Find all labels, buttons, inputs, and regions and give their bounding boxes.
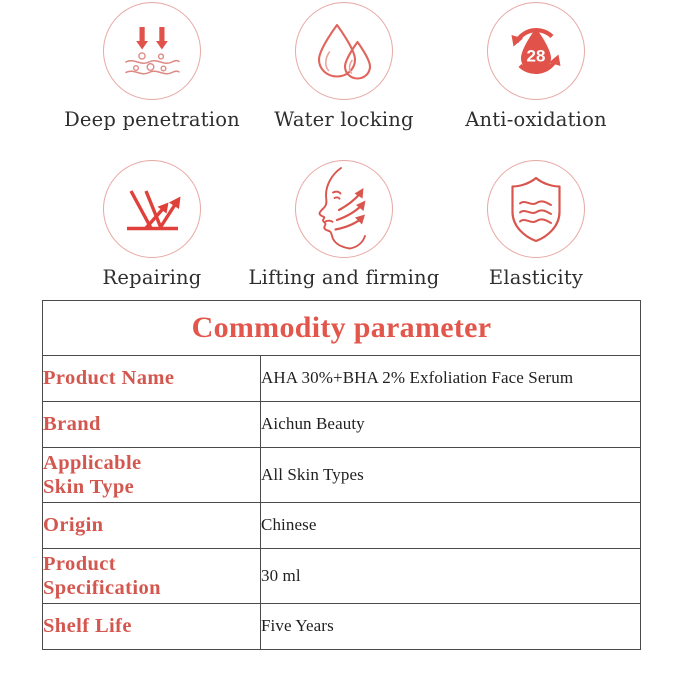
- label-text: Product Name: [43, 366, 260, 390]
- shield-waves-glyph: [501, 172, 571, 246]
- deep-penetration-icon: [103, 2, 201, 100]
- feature-item-repairing: Repairing: [52, 160, 252, 289]
- table-title-cell: Commodity parameter: [43, 301, 641, 356]
- feature-label: Anti-oxidation: [436, 108, 636, 131]
- table-row: Brand Aichun Beauty: [43, 402, 641, 448]
- commodity-parameter-table: Commodity parameter Product Name AHA 30%…: [42, 300, 641, 650]
- feature-label: Elasticity: [436, 266, 636, 289]
- anti-oxidation-badge-number: 28: [527, 47, 546, 66]
- deep-penetration-glyph: [116, 15, 188, 87]
- label-text: Applicable Skin Type: [43, 451, 260, 499]
- row-value-applicable-skin-type: All Skin Types: [261, 448, 641, 503]
- value-text: Chinese: [261, 515, 640, 535]
- table-row: Product Name AHA 30%+BHA 2% Exfoliation …: [43, 356, 641, 402]
- value-text: 30 ml: [261, 566, 640, 586]
- table-row: Shelf Life Five Years: [43, 604, 641, 650]
- page-title: Commodity parameter: [192, 311, 492, 344]
- feature-item-anti-oxidation: 28 Anti-oxidation: [436, 2, 636, 131]
- feature-label: Lifting and firming: [244, 266, 444, 289]
- row-label-product-specification: Product Specification: [43, 549, 261, 604]
- table-row: Origin Chinese: [43, 503, 641, 549]
- anti-oxidation-glyph: 28: [500, 15, 572, 87]
- label-text: Product Specification: [43, 552, 260, 600]
- feature-icon-grid: Deep penetration Water locking: [0, 0, 679, 296]
- face-lifting-glyph: [301, 166, 387, 252]
- water-droplets-glyph: [309, 16, 379, 86]
- row-label-applicable-skin-type: Applicable Skin Type: [43, 448, 261, 503]
- value-text: All Skin Types: [261, 465, 640, 485]
- repairing-arrows-icon: [103, 160, 201, 258]
- row-value-product-specification: 30 ml: [261, 549, 641, 604]
- table-row: Applicable Skin Type All Skin Types: [43, 448, 641, 503]
- label-text: Shelf Life: [43, 614, 260, 638]
- shield-waves-icon: [487, 160, 585, 258]
- value-text: Aichun Beauty: [261, 414, 640, 434]
- feature-item-water-locking: Water locking: [244, 2, 444, 131]
- row-value-shelf-life: Five Years: [261, 604, 641, 650]
- water-droplets-icon: [295, 2, 393, 100]
- row-label-shelf-life: Shelf Life: [43, 604, 261, 650]
- feature-label: Water locking: [244, 108, 444, 131]
- row-value-product-name: AHA 30%+BHA 2% Exfoliation Face Serum: [261, 356, 641, 402]
- table-title-row: Commodity parameter: [43, 301, 641, 356]
- feature-item-deep-penetration: Deep penetration: [52, 2, 252, 131]
- feature-label: Repairing: [52, 266, 252, 289]
- row-value-brand: Aichun Beauty: [261, 402, 641, 448]
- repairing-arrows-glyph: [116, 173, 188, 245]
- value-text: AHA 30%+BHA 2% Exfoliation Face Serum: [261, 368, 640, 388]
- label-text: Brand: [43, 412, 260, 436]
- row-label-origin: Origin: [43, 503, 261, 549]
- feature-item-lifting-firming: Lifting and firming: [244, 160, 444, 289]
- row-value-origin: Chinese: [261, 503, 641, 549]
- value-text: Five Years: [261, 616, 640, 636]
- label-text: Origin: [43, 513, 260, 537]
- row-label-product-name: Product Name: [43, 356, 261, 402]
- row-label-brand: Brand: [43, 402, 261, 448]
- anti-oxidation-28-icon: 28: [487, 2, 585, 100]
- face-lifting-icon: [295, 160, 393, 258]
- table-row: Product Specification 30 ml: [43, 549, 641, 604]
- feature-item-elasticity: Elasticity: [436, 160, 636, 289]
- feature-label: Deep penetration: [52, 108, 252, 131]
